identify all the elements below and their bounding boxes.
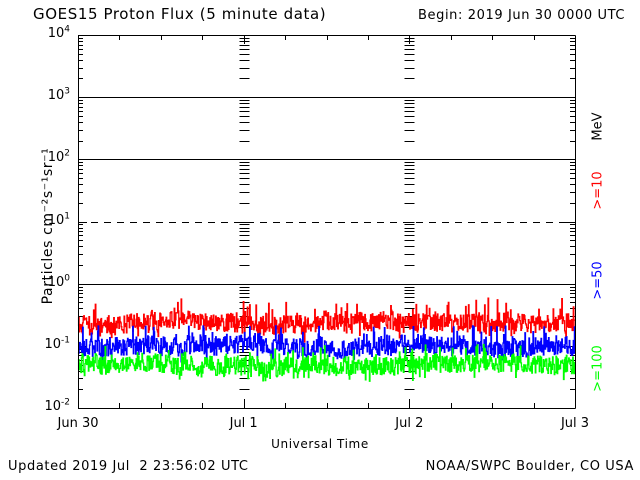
x-tick-label: Jul 2 — [359, 416, 459, 431]
x-tick-label: Jun 30 — [28, 416, 128, 431]
begin-timestamp: Begin: 2019 Jun 30 0000 UTC — [418, 8, 625, 23]
y-tick-label: 100 — [14, 275, 70, 290]
y-tick-label: 101 — [14, 213, 70, 228]
proton-flux-plot: GOES15 Proton Flux (5 minute data) Begin… — [0, 0, 640, 480]
side-label-series-100mev: >=100 — [591, 309, 606, 429]
y-tick-label: 104 — [14, 26, 70, 41]
y-tick-label: 102 — [14, 150, 70, 165]
y-tick-label: 10-1 — [14, 337, 70, 352]
credit-label: NOAA/SWPC Boulder, CO USA — [426, 459, 634, 474]
x-tick-label: Jul 3 — [525, 416, 625, 431]
x-tick-label: Jul 1 — [194, 416, 294, 431]
updated-timestamp: Updated 2019 Jul 2 23:56:02 UTC — [8, 459, 249, 474]
page-title: GOES15 Proton Flux (5 minute data) — [33, 5, 326, 23]
y-tick-label: 10-2 — [14, 399, 70, 414]
plot-canvas — [0, 0, 640, 480]
x-axis-label: Universal Time — [0, 437, 640, 451]
y-tick-label: 103 — [14, 88, 70, 103]
